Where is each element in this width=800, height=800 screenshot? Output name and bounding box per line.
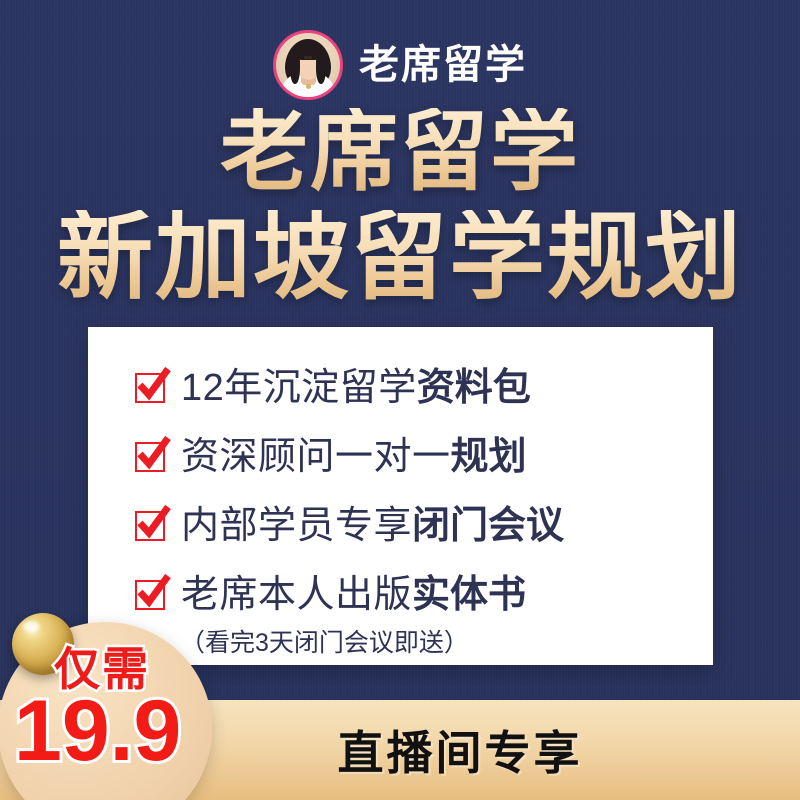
feature-text: 内部学员专享闭门会议 (181, 507, 564, 545)
feature-list: 12年沉淀留学资料包 资深顾问一对一规划 内部学员专享闭门会议 (135, 353, 695, 629)
card-note: （看完3天闭门会议即送） (180, 623, 469, 659)
avatar-hair-left (290, 50, 300, 84)
feature-row: 内部学员专享闭门会议 (135, 491, 695, 560)
checkbox-checked-icon (135, 580, 165, 610)
feature-text-emphasis: 闭门会议 (412, 505, 564, 547)
feature-text: 资深顾问一对一规划 (181, 438, 527, 476)
avatar-hair-right (316, 50, 326, 84)
avatar-photo-icon (273, 30, 343, 100)
main-title: 老席留学 新加坡留学规划 (0, 108, 800, 306)
brand-name: 老席留学 (359, 45, 527, 85)
feature-text-regular: 内部学员专享 (181, 505, 412, 547)
avatar-eye-right (308, 56, 312, 59)
price-value: 19.9 (14, 688, 181, 774)
feature-text: 老席本人出版实体书 (181, 576, 526, 614)
checkbox-checked-icon (135, 442, 165, 472)
feature-text-emphasis: 实体书 (412, 574, 526, 616)
feature-row: 12年沉淀留学资料包 (135, 353, 695, 422)
feature-text-emphasis: 规划 (451, 436, 527, 478)
feature-text: 12年沉淀留学资料包 (181, 369, 531, 407)
feature-row: 老席本人出版实体书 (135, 560, 695, 629)
promo-poster: 老席留学 老席留学 新加坡留学规划 12年沉淀留学资料包 (0, 0, 800, 800)
checkbox-checked-icon (135, 373, 165, 403)
feature-text-regular: 12年沉淀留学 (181, 367, 417, 409)
feature-text-regular: 老席本人出版 (181, 574, 412, 616)
feature-text-regular: 资深顾问一对一 (181, 436, 451, 478)
feature-row: 资深顾问一对一规划 (135, 422, 695, 491)
title-line-1: 老席留学 (0, 108, 800, 196)
feature-card: 12年沉淀留学资料包 资深顾问一对一规划 内部学员专享闭门会议 (88, 327, 713, 665)
feature-text-emphasis: 资料包 (417, 367, 531, 409)
brand-header: 老席留学 (0, 26, 800, 104)
avatar-necklace (306, 84, 311, 89)
checkbox-checked-icon (135, 511, 165, 541)
title-line-2: 新加坡留学规划 (0, 210, 800, 306)
